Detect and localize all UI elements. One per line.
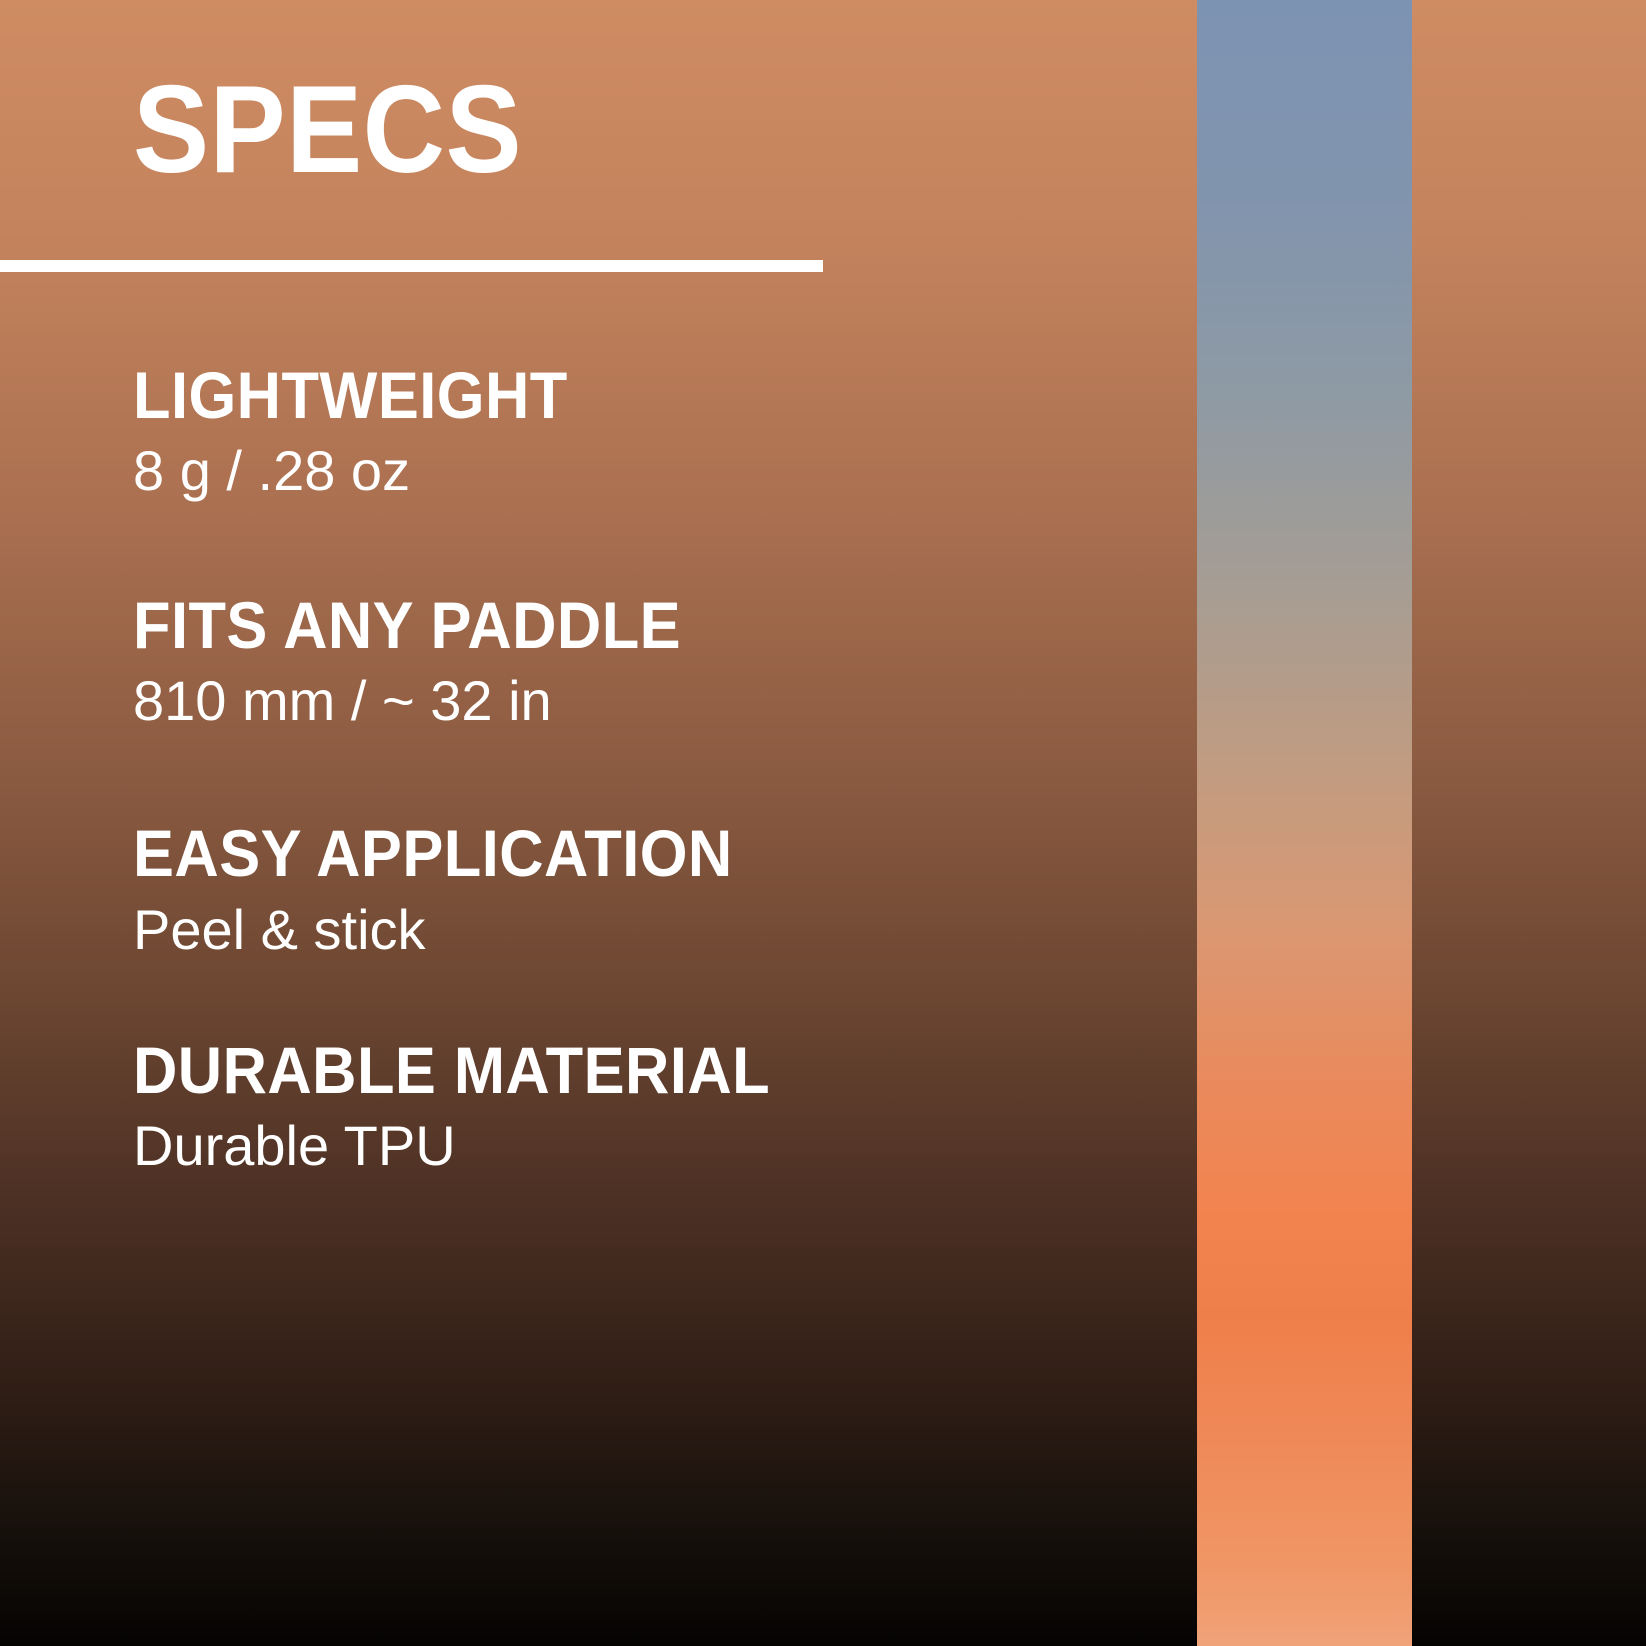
right-panel-background: [1412, 0, 1646, 1646]
spec-value: 8 g / .28 oz: [133, 439, 1133, 504]
spec-label: EASY APPLICATION: [133, 818, 1063, 889]
spec-label: LIGHTWEIGHT: [133, 360, 1063, 431]
accent-gradient-strip: [1197, 0, 1412, 1646]
spec-label: DURABLE MATERIAL: [133, 1035, 1063, 1106]
page-title: SPECS: [133, 68, 522, 192]
specs-content: SPECS LIGHTWEIGHT 8 g / .28 oz FITS ANY …: [0, 0, 1197, 1646]
spec-list: LIGHTWEIGHT 8 g / .28 oz FITS ANY PADDLE…: [133, 360, 1133, 1179]
spec-item-easy-application: EASY APPLICATION Peel & stick: [133, 818, 1133, 962]
spec-item-durable-material: DURABLE MATERIAL Durable TPU: [133, 1035, 1133, 1179]
specs-graphic: SPECS LIGHTWEIGHT 8 g / .28 oz FITS ANY …: [0, 0, 1646, 1646]
spec-value: Durable TPU: [133, 1114, 1133, 1179]
spec-value: 810 mm / ~ 32 in: [133, 669, 1133, 734]
title-divider: [0, 260, 823, 272]
spec-value: Peel & stick: [133, 898, 1133, 963]
spec-item-fits-any-paddle: FITS ANY PADDLE 810 mm / ~ 32 in: [133, 590, 1133, 734]
spec-label: FITS ANY PADDLE: [133, 590, 1063, 661]
spec-item-lightweight: LIGHTWEIGHT 8 g / .28 oz: [133, 360, 1133, 504]
